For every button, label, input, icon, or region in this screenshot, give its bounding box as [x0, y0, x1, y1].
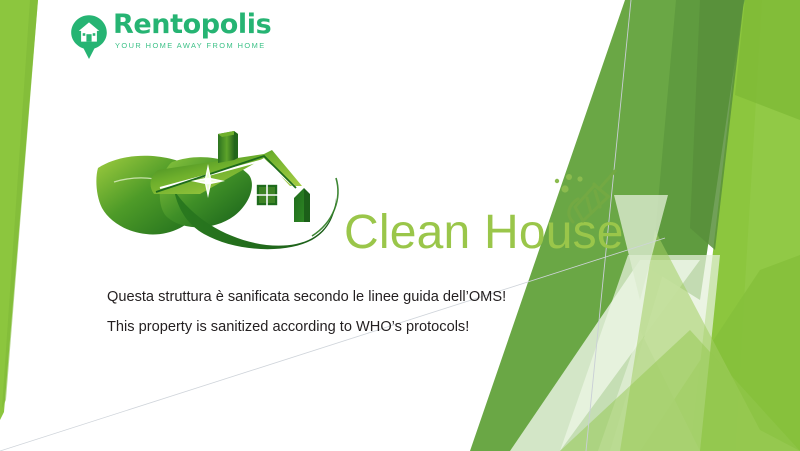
house-chimney-side: [234, 131, 238, 160]
house-window-right: [93, 33, 96, 36]
right-bright-band: [690, 0, 800, 451]
body-line-italian: Questa struttura è sanificata secondo le…: [107, 282, 667, 312]
house-right-wall-edge: [304, 188, 310, 222]
pale-green-shard-lower: [560, 330, 800, 451]
left-green-wedge: [0, 0, 38, 420]
right-bright-band-2: [735, 0, 800, 451]
brand-logo[interactable]: Rentopolis YOUR HOME AWAY FROM HOME: [70, 10, 271, 66]
pale-green-shard-top: [598, 330, 700, 451]
broom-bristle-line-1: [587, 198, 591, 213]
body-line-english: This property is sanitized according to …: [107, 312, 667, 342]
broom-bristle-line-2: [595, 191, 600, 207]
brand-tagline: YOUR HOME AWAY FROM HOME: [115, 41, 266, 51]
house-right-wall: [294, 188, 304, 222]
broom-sweeping-icon: [553, 167, 623, 229]
house-door: [86, 34, 91, 41]
broom-dust-specks: [555, 174, 583, 193]
house-window: [256, 184, 278, 206]
left-green-wedge-shade: [2, 0, 38, 408]
body-copy: Questa struttura è sanificata secondo le…: [107, 282, 667, 342]
broom-bristles: [575, 186, 609, 222]
brand-text-group: Rentopolis YOUR HOME AWAY FROM HOME: [113, 10, 271, 51]
broom-handle: [599, 171, 615, 189]
deep-green-triangle-2: [690, 0, 744, 250]
leaf-house-eco-icon: [96, 126, 348, 254]
mid-green-sliver: [735, 0, 800, 120]
location-pin-house-icon: [70, 14, 108, 60]
deep-green-triangle: [652, 0, 744, 300]
hairline-diagonal-lower: [0, 238, 665, 451]
slide-canvas: Rentopolis YOUR HOME AWAY FROM HOME: [0, 0, 800, 451]
house-window-left: [83, 33, 86, 36]
brand-name: Rentopolis: [113, 10, 271, 40]
